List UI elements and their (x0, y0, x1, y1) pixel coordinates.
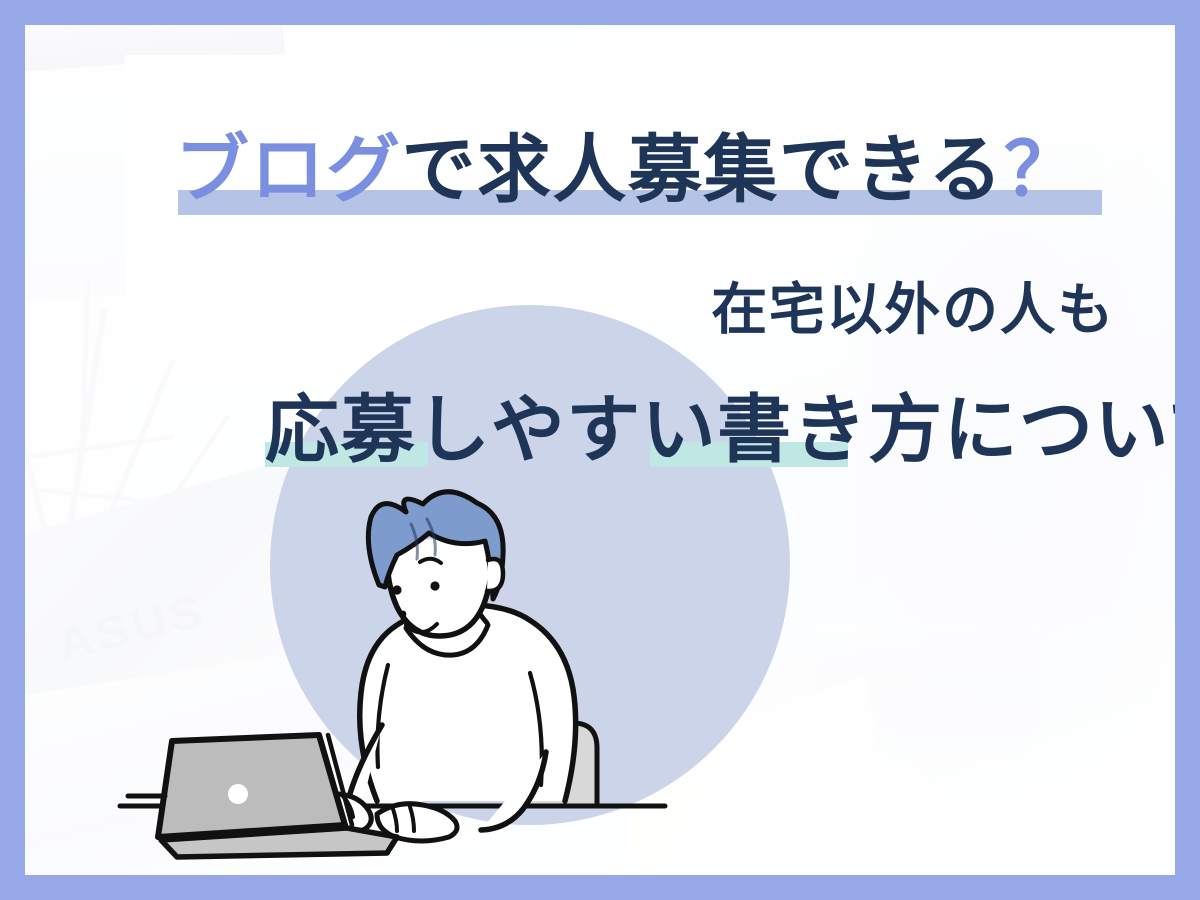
inner-plate: ASUS (25, 25, 1175, 875)
ear (487, 559, 503, 591)
laptop-logo-dot (228, 784, 248, 804)
illustration-woman-typing (25, 25, 1175, 875)
nose (400, 611, 407, 618)
laptop-lid (158, 735, 345, 837)
eye-left (392, 585, 401, 594)
eye-right (430, 581, 439, 590)
eyecatch-canvas: ASUS (0, 0, 1200, 900)
